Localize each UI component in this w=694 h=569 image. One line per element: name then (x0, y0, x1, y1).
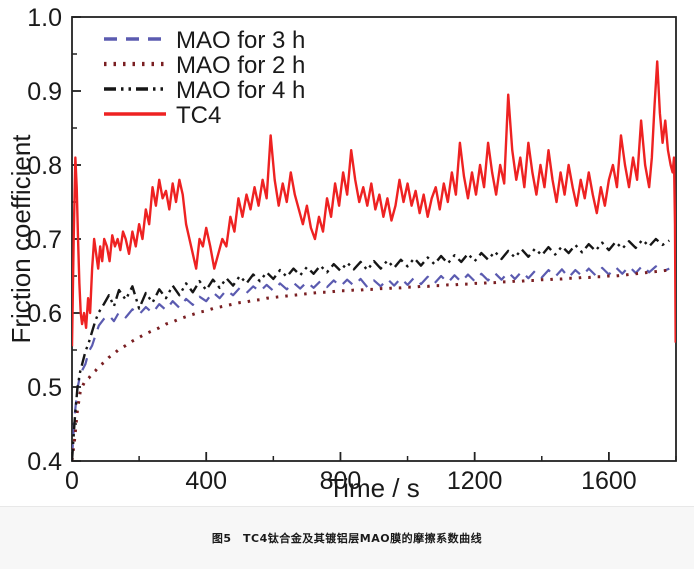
x-axis-title: Time / s (328, 473, 419, 500)
legend-label: TC4 (176, 102, 221, 129)
legend-label: MAO for 4 h (176, 77, 305, 104)
series-line (72, 270, 669, 460)
y-tick-label: 0.5 (27, 374, 62, 402)
y-axis-title: Friction coefficient (6, 134, 36, 344)
series-line (72, 239, 669, 461)
friction-coefficient-chart: 040080012001600 0.40.50.60.70.80.91.0 MA… (0, 0, 694, 500)
x-tick-label: 400 (185, 467, 227, 495)
chart-area: 040080012001600 0.40.50.60.70.80.91.0 MA… (0, 0, 694, 500)
x-tick-label: 0 (65, 467, 79, 495)
y-tick-label: 1.0 (27, 4, 62, 32)
legend-label: MAO for 2 h (176, 52, 305, 79)
y-tick-label: 0.4 (27, 448, 62, 476)
figure-root: 040080012001600 0.40.50.60.70.80.91.0 MA… (0, 0, 694, 568)
x-tick-label: 1200 (447, 467, 503, 495)
plot-frame (72, 17, 676, 461)
x-tick-label: 1600 (581, 467, 637, 495)
legend-label: MAO for 3 h (176, 27, 305, 54)
figure-caption: 图5 TC4钛合金及其镀铝层MAO膜的摩擦系数曲线 (0, 530, 694, 546)
y-tick-label: 0.9 (27, 78, 62, 106)
chart-legend: MAO for 3 hMAO for 2 hMAO for 4 hTC4 (104, 27, 305, 129)
series-line (72, 61, 676, 346)
data-series-group (72, 61, 676, 461)
axis-ticks (72, 17, 676, 461)
